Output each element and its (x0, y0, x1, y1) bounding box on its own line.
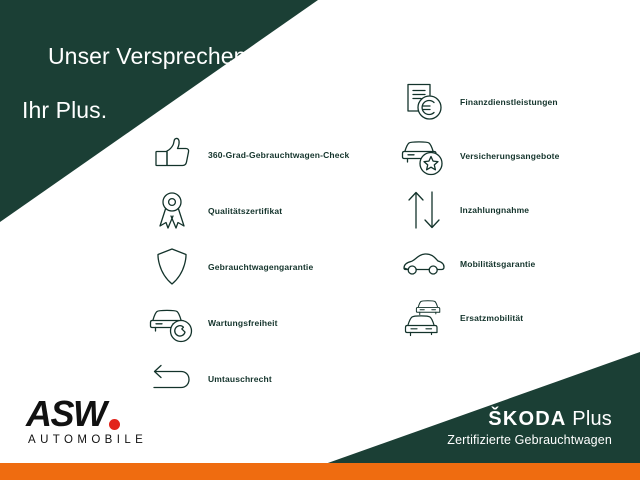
document-euro-icon (398, 80, 450, 124)
orange-footer-bar (0, 463, 640, 480)
dealer-logo-subtitle: AUTOMOBILE (28, 434, 147, 446)
dealer-logo-wordmark: ASW (26, 396, 147, 432)
car-side-icon (398, 242, 450, 286)
quality-rosette-icon (146, 189, 198, 233)
brand-badge-tagline: Zertifizierte Gebrauchtwagen (447, 432, 612, 448)
brand-badge-title: ŠKODA Plus (447, 408, 612, 431)
brand-badge: ŠKODA Plus Zertifizierte Gebrauchtwagen (447, 408, 612, 448)
brand-mark: ŠKODA (488, 408, 566, 430)
car-star-icon (398, 134, 450, 178)
feature-item-warranty: Gebrauchtwagengarantie (146, 240, 349, 294)
feature-label: Qualitätszertifikat (208, 206, 282, 216)
feature-label: 360-Grad-Gebrauchtwagen-Check (208, 150, 349, 160)
feature-label: Mobilitätsgarantie (460, 259, 535, 269)
feature-item-maintenance-free: Wartungsfreiheit (146, 296, 349, 350)
feature-item-financial-services: Finanzdienstleistungen (398, 76, 560, 128)
feature-item-mobility-guarantee: Mobilitätsgarantie (398, 238, 560, 290)
car-wrench-icon (146, 301, 198, 345)
feature-label: Ersatzmobilität (460, 313, 523, 323)
promo-banner: Unser Versprechen. Ihr Plus. 360-Grad-Ge… (0, 0, 640, 480)
feature-label: Inzahlungnahme (460, 205, 529, 215)
feature-item-insurance-offers: Versicherungsangebote (398, 130, 560, 182)
two-cars-icon (398, 296, 450, 340)
feature-label: Gebrauchtwagengarantie (208, 262, 313, 272)
dealer-logo: ASW AUTOMOBILE (26, 396, 147, 446)
thumbs-up-icon (146, 133, 198, 177)
shield-icon (146, 245, 198, 289)
feature-item-replacement-mobility: Ersatzmobilität (398, 292, 560, 344)
feature-item-trade-in: Inzahlungnahme (398, 184, 560, 236)
dealer-logo-name: ASW (26, 396, 106, 432)
feature-label: Wartungsfreiheit (208, 318, 278, 328)
dealer-logo-dot (109, 419, 120, 430)
return-arrow-icon (146, 357, 198, 401)
headline-line-2: Ihr Plus. (22, 97, 253, 124)
feature-list-right: Finanzdienstleistungen Versicherungsange… (398, 76, 560, 346)
feature-item-360-check: 360-Grad-Gebrauchtwagen-Check (146, 128, 349, 182)
headline-line-1: Unser Versprechen. (48, 43, 253, 69)
feature-label: Versicherungsangebote (460, 151, 560, 161)
feature-item-quality-certificate: Qualitätszertifikat (146, 184, 349, 238)
feature-list-left: 360-Grad-Gebrauchtwagen-Check Qualitätsz… (146, 128, 349, 408)
feature-item-exchange-right: Umtauschrecht (146, 352, 349, 406)
up-down-arrows-icon (398, 188, 450, 232)
feature-label: Finanzdienstleistungen (460, 97, 558, 107)
feature-label: Umtauschrecht (208, 374, 272, 384)
brand-plus-label: Plus (572, 408, 612, 430)
